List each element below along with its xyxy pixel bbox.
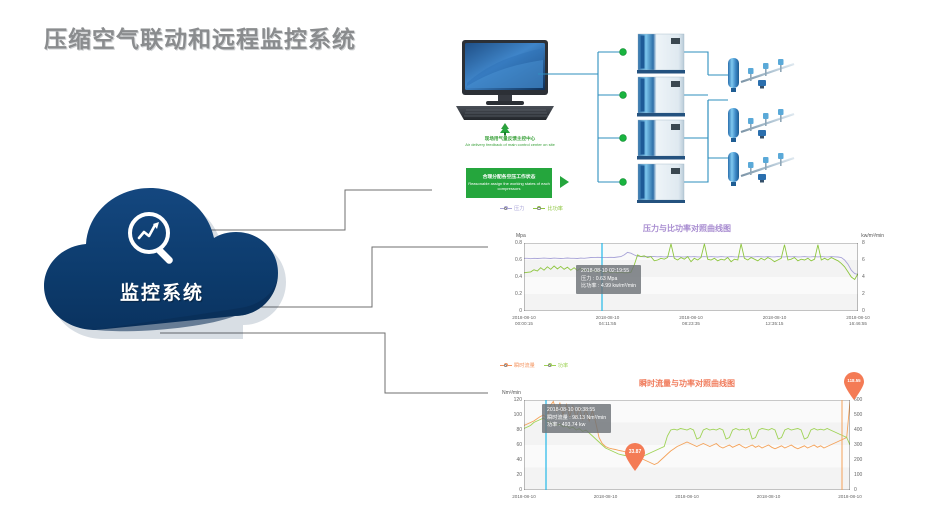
chart2-tooltip-power: 功率 : 493.74 kw	[547, 422, 606, 430]
legend-item[interactable]: 功率	[544, 362, 568, 369]
legend-label: 瞬时流量	[514, 362, 535, 369]
legend-marker-icon	[544, 363, 556, 368]
legend-label: 功率	[558, 362, 568, 369]
chart2-tooltip: 2018-08-10 00:38:55 瞬时流量 : 98.13 Nm³/min…	[542, 404, 611, 433]
chart2-tooltip-flow: 瞬时流量 : 98.13 Nm³/min	[547, 415, 606, 423]
axis-tick-label: 0.8	[500, 240, 522, 246]
chart1-y-axis-unit: Mpa	[516, 233, 526, 239]
axis-tick-label: 80	[500, 427, 522, 433]
axis-tick-label: 2	[862, 291, 865, 297]
axis-tick-label: 0.2	[500, 291, 522, 297]
chart1-tooltip-power: 比功率 : 4.99 kw/m³/min	[581, 283, 636, 291]
axis-tick-label: 40	[500, 457, 522, 463]
chart1-tooltip-pressure: 压力 : 0.63 Mpa	[581, 276, 636, 284]
axis-tick-label: 0	[500, 487, 522, 493]
legend-item[interactable]: 比功率	[533, 205, 563, 212]
axis-tick-label: 2018-08-10	[826, 494, 874, 500]
chart1-title: 压力与比功率对照曲线图	[488, 223, 886, 234]
axis-tick-label: 20	[500, 472, 522, 478]
axis-tick-label: 120	[500, 397, 522, 403]
axis-tick-label: 400	[854, 427, 862, 433]
chart2-legend[interactable]: 瞬时流量功率	[500, 362, 568, 369]
axis-tick-label: 100	[500, 412, 522, 418]
legend-item[interactable]: 压力	[500, 205, 524, 212]
axis-tick-label: 500	[854, 412, 862, 418]
magnifier-chart-icon	[122, 208, 188, 274]
axis-tick-label: 2018-08-10	[582, 494, 630, 500]
axis-tick-label: 200	[854, 457, 862, 463]
pressure-specific-power-chart[interactable]: 压力比功率 压力与比功率对照曲线图 Mpa kw/m³/min 0.80.60.…	[488, 203, 886, 335]
system-topology-diagram: 现场用气量反馈主控中心 Air delivery feedback of mai…	[432, 22, 944, 208]
axis-tick-label: 2018-08-1012:35:15	[751, 315, 799, 326]
chart2-y-axis-unit: Nm³/min	[502, 390, 521, 396]
legend-marker-icon	[500, 206, 512, 211]
axis-tick-label: 2018-08-10	[500, 494, 548, 500]
cloud-shape[interactable]: 监控系统	[34, 186, 290, 338]
axis-tick-label: 8	[862, 240, 865, 246]
axis-tick-label: 0.6	[500, 257, 522, 263]
axis-tick-label: 0	[500, 308, 522, 314]
slide-root: 压缩空气联动和远程监控系统	[0, 0, 945, 529]
legend-label: 压力	[514, 205, 524, 212]
chart2-max-marker[interactable]: 118.55	[843, 372, 865, 400]
axis-tick-label: 4	[862, 274, 865, 280]
flow-power-chart[interactable]: 瞬时流量功率 瞬时流量与功率对照曲线图 Nm³/min 120100806040…	[488, 360, 886, 510]
axis-tick-label: 300	[854, 442, 862, 448]
chart1-plot-area	[524, 243, 858, 311]
chart2-title: 瞬时流量与功率对照曲线图	[488, 378, 886, 389]
axis-tick-label: 2018-08-1000:00:15	[500, 315, 548, 326]
axis-tick-label: 2018-08-10	[745, 494, 793, 500]
chart1-y2-axis-unit: kw/m³/min	[861, 233, 884, 239]
axis-tick-label: 0	[862, 308, 865, 314]
topology-wiring	[432, 22, 944, 208]
axis-tick-label: 6	[862, 257, 865, 263]
axis-tick-label: 2018-08-10	[663, 494, 711, 500]
chart1-legend[interactable]: 压力比功率	[500, 205, 563, 212]
axis-tick-label: 2018-08-1008:23:35	[667, 315, 715, 326]
cloud-label: 监控系统	[34, 278, 290, 305]
legend-item[interactable]: 瞬时流量	[500, 362, 535, 369]
legend-marker-icon	[500, 363, 512, 368]
axis-tick-label: 100	[854, 472, 862, 478]
chart2-max-marker-label: 118.55	[843, 378, 865, 383]
axis-tick-label: 0.4	[500, 274, 522, 280]
chart2-min-marker[interactable]: 33.87	[624, 443, 646, 471]
axis-tick-label: 2018-08-1016:46:55	[834, 315, 882, 326]
legend-marker-icon	[533, 206, 545, 211]
chart2-tooltip-time: 2018-08-10 00:38:55	[547, 407, 606, 415]
page-title: 压缩空气联动和远程监控系统	[44, 20, 356, 54]
axis-tick-label: 60	[500, 442, 522, 448]
legend-label: 比功率	[547, 205, 563, 212]
chart1-tooltip-time: 2018-08-10 02:19:55	[581, 268, 636, 276]
chart1-tooltip: 2018-08-10 02:19:55 压力 : 0.63 Mpa 比功率 : …	[576, 265, 641, 294]
chart2-min-marker-label: 33.87	[624, 449, 646, 455]
axis-tick-label: 0	[854, 487, 857, 493]
axis-tick-label: 2018-08-1004:11:55	[584, 315, 632, 326]
